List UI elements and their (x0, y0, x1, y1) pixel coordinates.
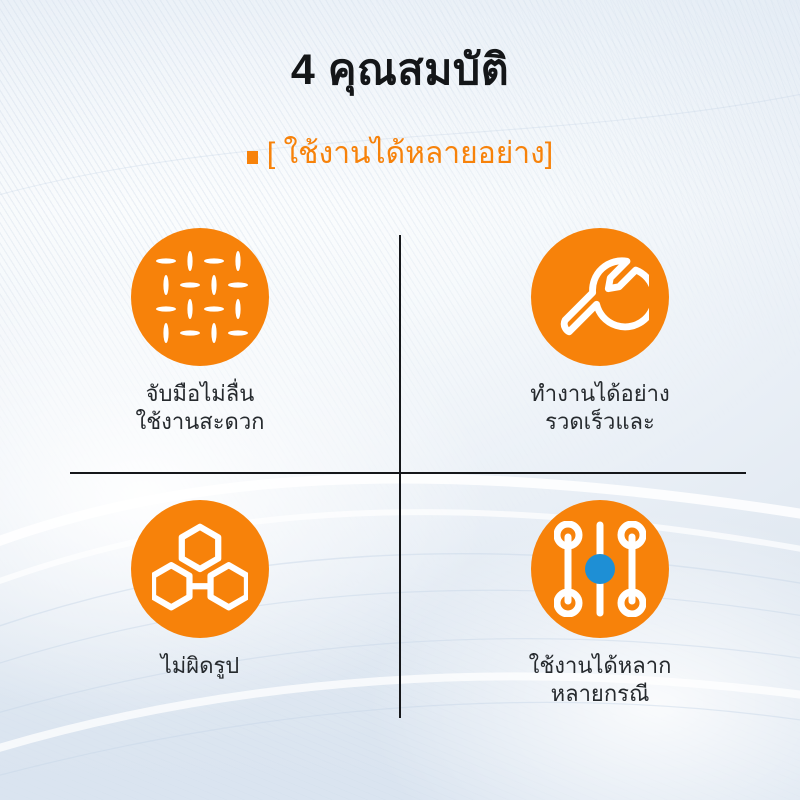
feature-icon-badge (131, 228, 269, 366)
page-title: 4 คุณสมบัติ (0, 46, 800, 95)
feature-label: ใช้งานได้หลาก หลายกรณี (529, 652, 672, 708)
wrench-icon (551, 248, 649, 346)
feature-icon-badge (531, 500, 669, 638)
page-subtitle: [ ใช้งานได้หลายอย่าง] (267, 136, 553, 172)
feature-label: ทำงานได้อย่าง รวดเร็วและ (530, 380, 670, 436)
feature-item-fast-work[interactable]: ทำงานได้อย่าง รวดเร็วและ (400, 228, 800, 436)
hexagon-molecule-icon (152, 523, 248, 615)
feature-item-no-deform[interactable]: ไม่ผิดรูป (0, 500, 400, 680)
subtitle-row: [ ใช้งานได้หลายอย่าง] (0, 136, 800, 172)
feature-label: ไม่ผิดรูป (161, 652, 240, 680)
feature-item-anti-slip[interactable]: จับมือไม่ลื่น ใช้งานสะดวก (0, 228, 400, 436)
feature-icon-badge (131, 500, 269, 638)
feature-label: จับมือไม่ลื่น ใช้งานสะดวก (135, 380, 264, 436)
infographic-canvas: 4 คุณสมบัติ [ ใช้งานได้หลายอย่าง] (0, 0, 800, 800)
feature-icon-badge (531, 228, 669, 366)
sliders-settings-icon (554, 521, 646, 617)
anti-slip-texture-icon (152, 249, 248, 345)
square-bullet-icon (247, 151, 258, 164)
feature-item-versatile[interactable]: ใช้งานได้หลาก หลายกรณี (400, 500, 800, 708)
feature-grid: จับมือไม่ลื่น ใช้งานสะดวก ทำงานได้อย่าง … (0, 228, 800, 748)
